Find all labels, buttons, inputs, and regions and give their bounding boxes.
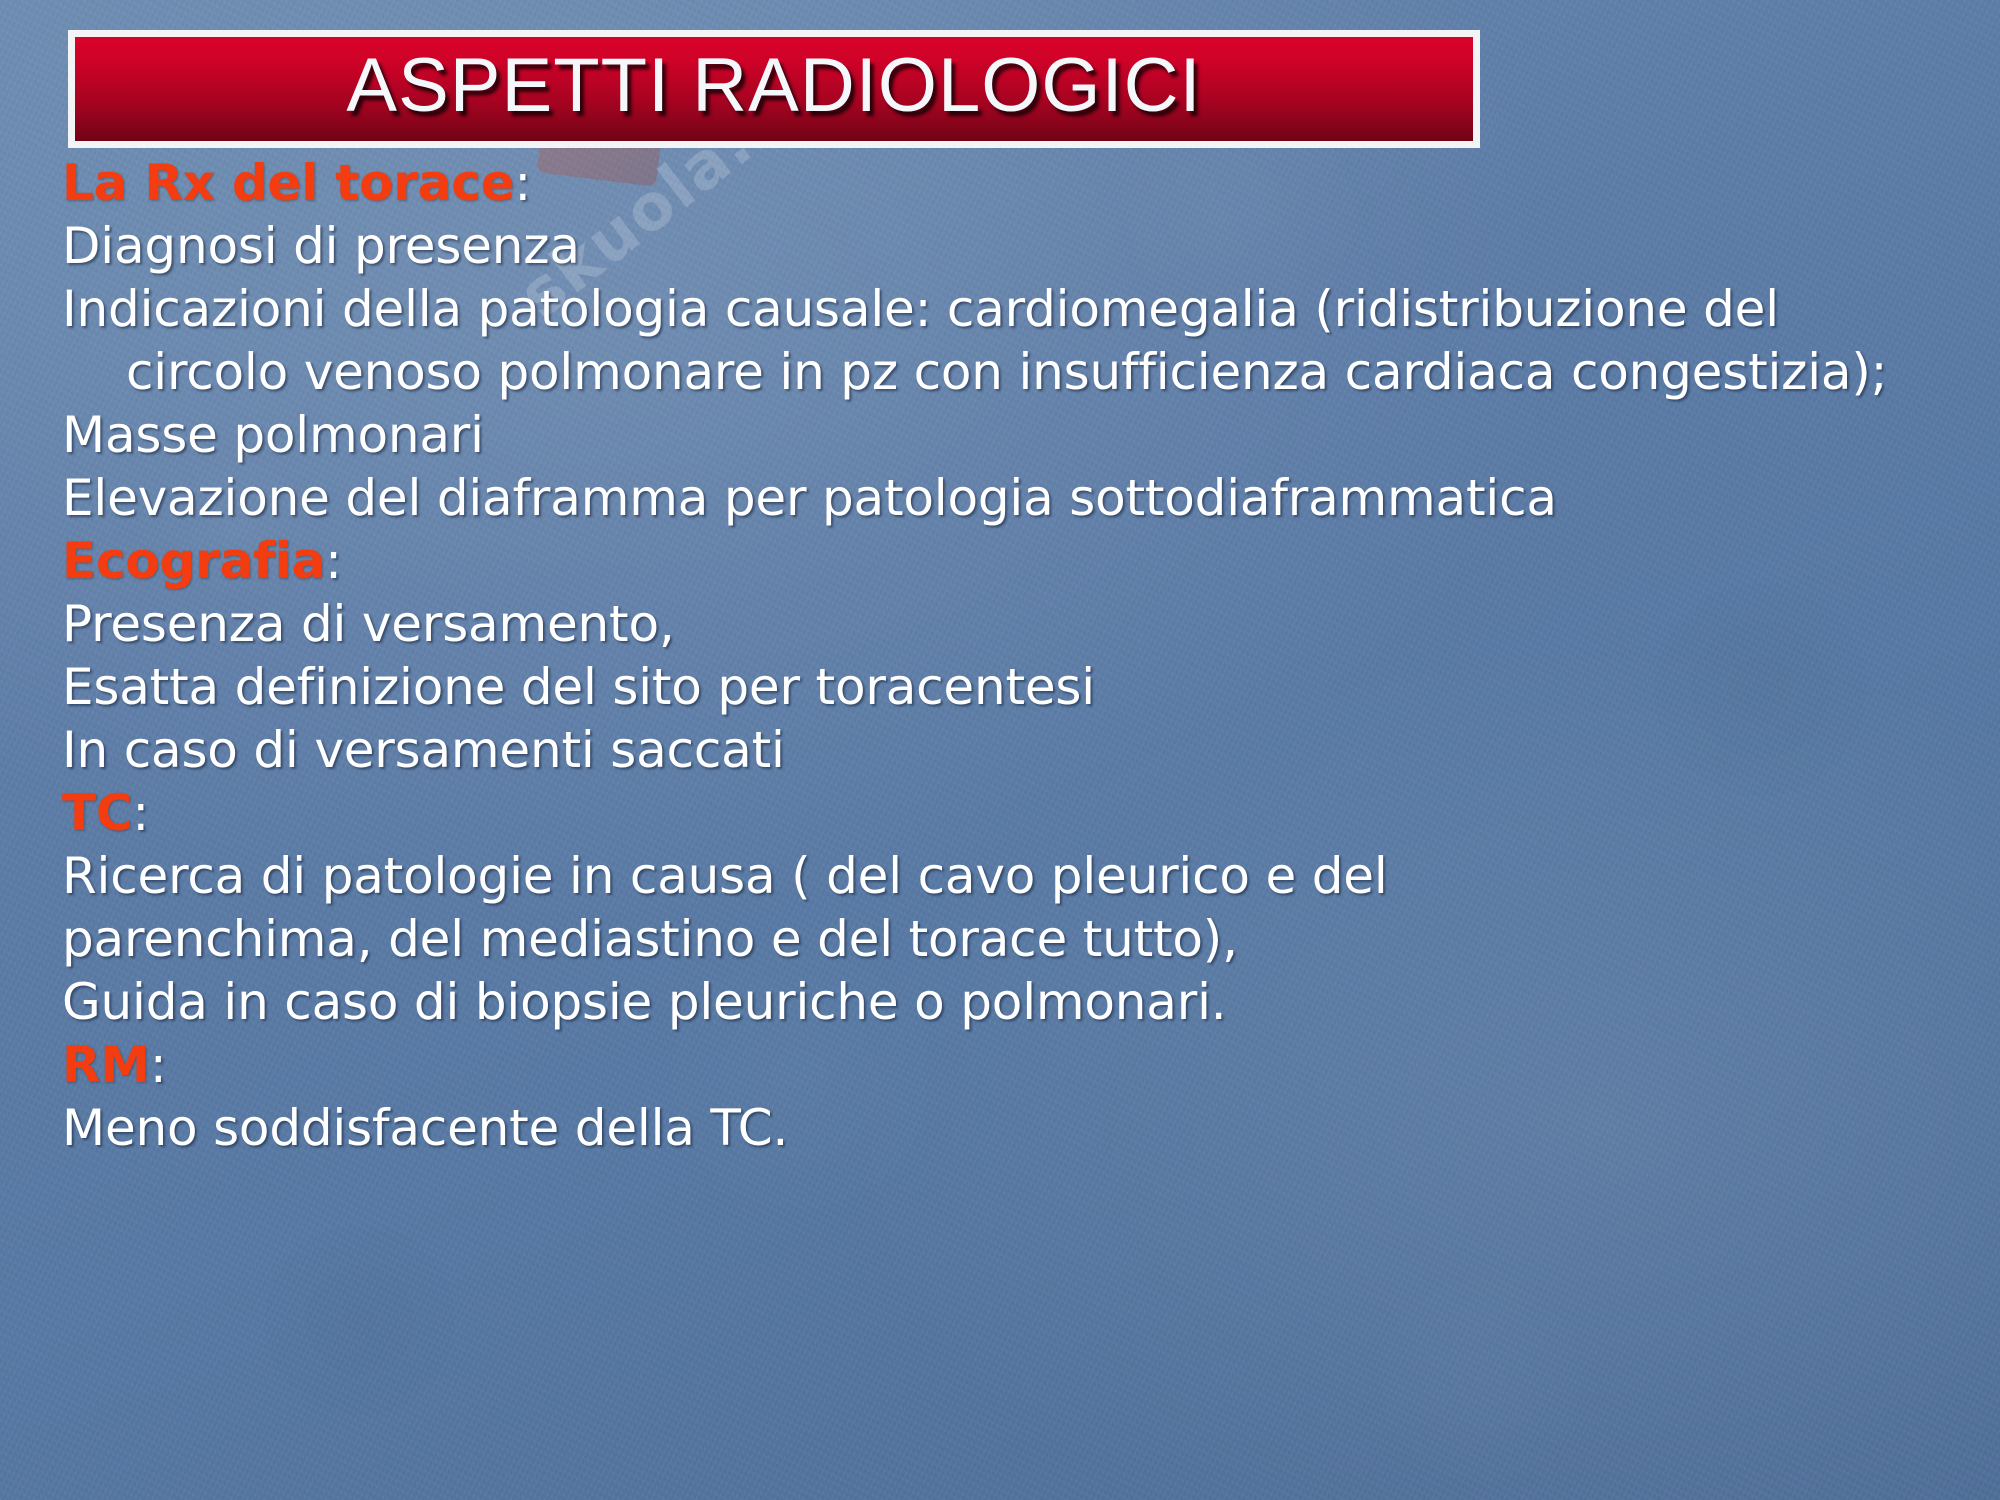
list-item: Guida in caso di biopsie pleuriche o pol… — [62, 971, 1942, 1034]
list-item: Indicazioni della patologia causale: car… — [62, 278, 1942, 404]
section-heading-label: Ecografia — [62, 532, 325, 590]
list-item: Presenza di versamento, — [62, 593, 1942, 656]
page-title: ASPETTI RADIOLOGICI — [346, 48, 1201, 130]
slide-root: skuola.net ASPETTI RADIOLOGICI La Rx del… — [0, 0, 2000, 1500]
slide-body: La Rx del torace: Diagnosi di presenza I… — [62, 152, 1942, 1160]
title-banner: ASPETTI RADIOLOGICI — [68, 30, 1480, 148]
section-heading-colon: : — [132, 784, 149, 842]
list-item: parenchima, del mediastino e del torace … — [62, 908, 1942, 971]
section-heading-colon: : — [150, 1036, 167, 1094]
section-heading-rm: RM: — [62, 1034, 1942, 1097]
section-heading-colon: : — [514, 154, 531, 212]
list-item: Esatta definizione del sito per toracent… — [62, 656, 1942, 719]
section-heading-ecografia: Ecografia: — [62, 530, 1942, 593]
section-heading-rx-torace: La Rx del torace: — [62, 152, 1942, 215]
list-item: In caso di versamenti saccati — [62, 719, 1942, 782]
section-heading-label: TC — [62, 784, 132, 842]
list-item: Ricerca di patologie in causa ( del cavo… — [62, 845, 1942, 908]
list-item: Diagnosi di presenza — [62, 215, 1942, 278]
section-heading-label: La Rx del torace — [62, 154, 514, 212]
section-heading-colon: : — [325, 532, 342, 590]
list-item: Masse polmonari — [62, 404, 1942, 467]
list-item: Elevazione del diaframma per patologia s… — [62, 467, 1942, 530]
section-heading-label: RM — [62, 1036, 150, 1094]
list-item: Meno soddisfacente della TC. — [62, 1097, 1942, 1160]
section-heading-tc: TC: — [62, 782, 1942, 845]
